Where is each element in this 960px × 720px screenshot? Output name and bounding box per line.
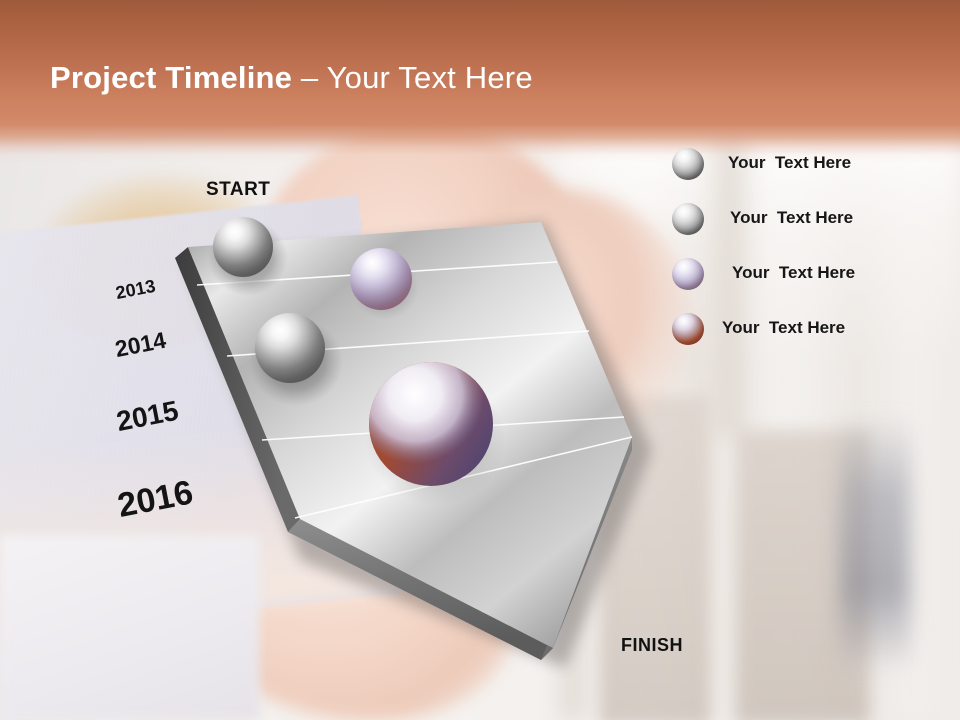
- milestone-sphere-1[interactable]: [208, 217, 288, 296]
- legend-item-4[interactable]: Your Text Here: [672, 313, 952, 368]
- legend: Your Text Here Your Text Here Your Text …: [672, 148, 952, 368]
- legend-item-label: Your Text Here: [730, 208, 853, 228]
- legend-item-1[interactable]: Your Text Here: [672, 148, 952, 203]
- legend-item-label: Your Text Here: [722, 318, 845, 338]
- legend-item-label: Your Text Here: [728, 153, 851, 173]
- legend-bullet-icon: [672, 258, 704, 290]
- legend-item-label: Your Text Here: [732, 263, 855, 283]
- start-label: START: [206, 179, 270, 201]
- legend-item-3[interactable]: Your Text Here: [672, 258, 952, 313]
- legend-item-2[interactable]: Your Text Here: [672, 203, 952, 258]
- legend-bullet-icon: [672, 148, 704, 180]
- legend-bullet-icon: [672, 313, 704, 345]
- finish-label: FINISH: [621, 635, 683, 656]
- slide-canvas: Project Timeline – Your Text Here: [0, 0, 960, 720]
- legend-bullet-icon: [672, 203, 704, 235]
